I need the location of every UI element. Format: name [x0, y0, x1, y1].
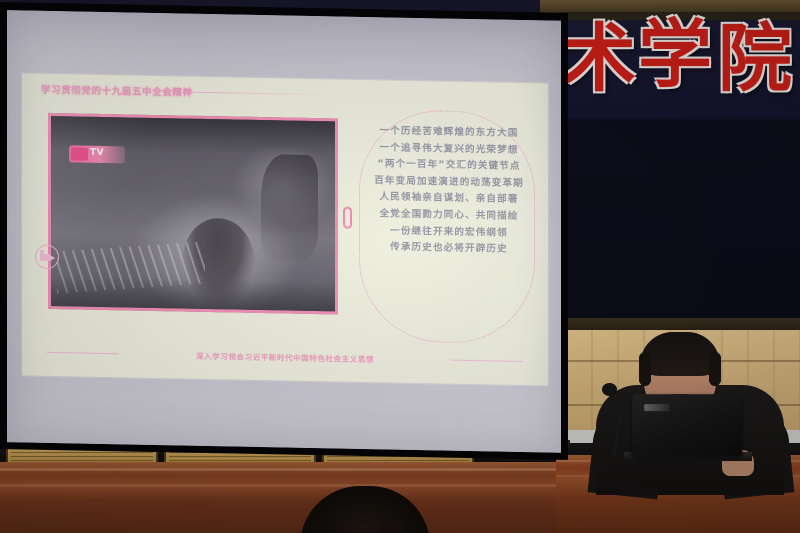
tv-logo-label: TV [90, 148, 104, 158]
film-body [40, 254, 50, 261]
black-laptop[interactable] [632, 394, 743, 456]
banner-character-2: 学 [638, 18, 712, 92]
embedded-video-player[interactable]: TV [48, 113, 338, 315]
slide-caption: 深入学习领会习近平新时代中国特色社会主义思想 [21, 347, 549, 368]
projection-screen-frame: 学习贯彻党的十九届五中全会精神 TV [0, 2, 568, 460]
video-foreground-figure [261, 154, 318, 261]
banner-character-3: 院 [718, 22, 792, 96]
slide-title-rule [189, 92, 337, 96]
slide-title: 学习贯彻党的十九届五中全会精神 [41, 82, 193, 99]
presenter-hair [640, 332, 720, 376]
video-shadow-bottom [51, 276, 335, 312]
lecture-hall-photo: 术 学 院 [0, 0, 800, 533]
tv-station-logo: TV [69, 145, 125, 163]
screen-lower-band [7, 376, 561, 453]
film-camera-icon [35, 245, 59, 269]
banner-character-1: 术 [562, 22, 636, 96]
slide-text-block: 一个历经苦难辉煌的东方大国 一个追寻伟大复兴的光荣梦想 “两个一百年”交汇的关键… [354, 123, 544, 259]
laptop-brand-logo [644, 404, 670, 411]
projection-screen: 学习贯彻党的十九届五中全会精神 TV [7, 10, 561, 453]
tv-logo-badge [71, 147, 88, 160]
presentation-slide: 学习贯彻党的十九届五中全会精神 TV [21, 72, 549, 386]
video-side-marker [343, 207, 352, 229]
gooseneck-microphone-head [602, 383, 617, 396]
screen-upper-band [7, 10, 561, 83]
